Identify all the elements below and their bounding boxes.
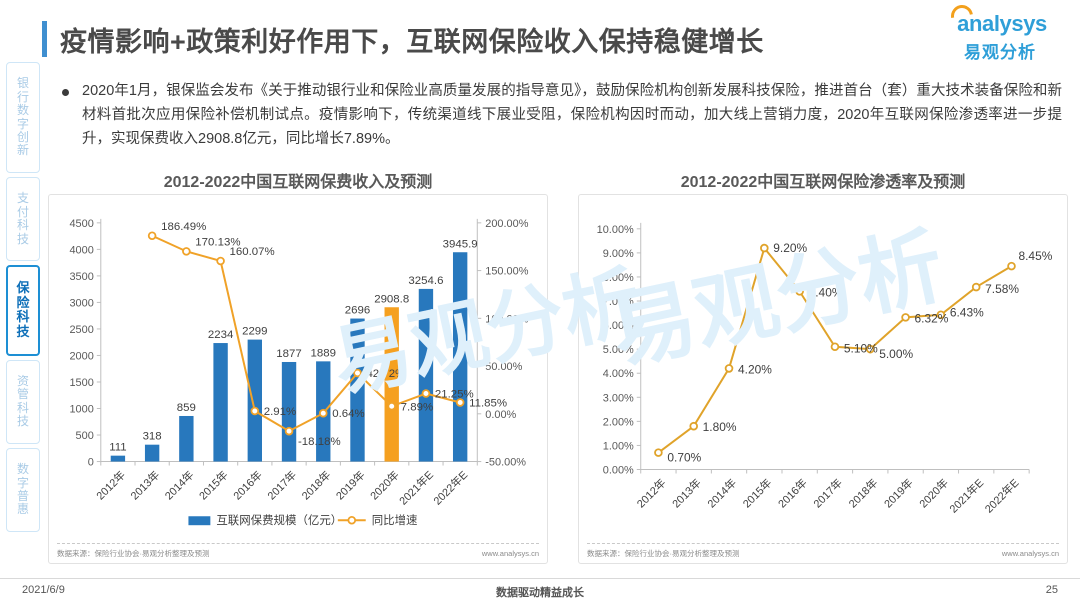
- x-tick-label: 2017年: [810, 476, 845, 511]
- x-tick-label: 2020年: [367, 468, 402, 503]
- chart-panel-penetration: 0.00%1.00%2.00%3.00%4.00%5.00%6.00%7.00%…: [578, 194, 1068, 564]
- sidebar-item-char: 科: [17, 402, 29, 415]
- bar: [179, 416, 193, 462]
- chart-panel-premium: 050010001500200025003000350040004500-50.…: [48, 194, 548, 564]
- source-text: 数据来源：保险行业协会·易观分析整理及预测: [587, 548, 740, 559]
- line-value-label: 5.00%: [879, 347, 913, 361]
- line-value-label: 0.70%: [667, 451, 701, 465]
- sidebar-item-char: 银: [17, 77, 29, 90]
- footer: 2021/6/9 数据驱动精益成长 25: [0, 582, 1080, 606]
- sidebar-item-char: 技: [17, 415, 29, 428]
- bar-value-label: 2234: [208, 329, 234, 341]
- source-note-penetration: 数据来源：保险行业协会·易观分析整理及预测 www.analysys.cn: [587, 543, 1059, 559]
- x-tick-label: 2012年: [93, 468, 128, 503]
- line-marker: [388, 403, 395, 410]
- source-url: www.analysys.cn: [482, 549, 539, 558]
- x-tick-label: 2012年: [634, 476, 669, 511]
- y-tick-label: 2.00%: [603, 416, 634, 428]
- bar: [453, 252, 467, 461]
- line-marker: [655, 449, 662, 456]
- line-value-label: 4.20%: [738, 362, 772, 376]
- x-tick-label: 2013年: [127, 468, 162, 503]
- bar-value-label: 1889: [311, 347, 336, 359]
- y-tick-label-left: 0: [88, 457, 94, 469]
- sidebar-nav[interactable]: 银行数字创新 支付科技 保险科技 资管科技 数字普惠: [6, 62, 40, 532]
- line-value-label: 6.32%: [915, 311, 949, 325]
- y-tick-label-left: 1000: [69, 403, 93, 415]
- sidebar-item-char: 险: [16, 296, 29, 311]
- sidebar-item-payment-tech[interactable]: 支付科技: [6, 177, 40, 261]
- bar: [385, 307, 399, 461]
- line-value-label: 186.49%: [161, 221, 206, 233]
- x-tick-label: 2022年E: [430, 468, 470, 508]
- bullet-dot-icon: [62, 89, 69, 96]
- y-tick-label-left: 1500: [69, 377, 93, 389]
- sidebar-item-char: 数: [17, 463, 29, 476]
- bar-value-label: 1877: [276, 348, 301, 360]
- y-tick-label-left: 4500: [69, 218, 93, 230]
- line-marker: [761, 245, 768, 252]
- y-tick-label: 5.00%: [603, 344, 634, 356]
- x-tick-label: 2016年: [230, 468, 265, 503]
- sidebar-item-char: 技: [17, 233, 29, 246]
- sidebar-item-char: 普: [17, 490, 29, 503]
- x-tick-label: 2017年: [264, 468, 299, 503]
- line-marker: [690, 423, 697, 430]
- y-tick-label-left: 2000: [69, 350, 93, 362]
- x-tick-label: 2022年E: [982, 476, 1022, 516]
- bar-value-label: 3254.6: [408, 275, 443, 287]
- line-marker: [149, 232, 156, 239]
- x-tick-label: 2015年: [196, 468, 231, 503]
- bar-value-label: 2299: [242, 326, 267, 338]
- line-marker: [320, 410, 327, 417]
- y-tick-label: 6.00%: [603, 320, 634, 332]
- y-tick-label-right: 150.00%: [485, 266, 528, 278]
- page-title: 疫情影响+政策利好作用下，互联网保险收入保持稳健增长: [42, 16, 930, 62]
- bullet-block: 2020年1月，银保监会发布《关于推动银行业和保险业高质量发展的指导意见》，鼓励…: [62, 80, 1062, 152]
- sidebar-item-char: 新: [17, 144, 29, 157]
- source-text: 数据来源：保险行业协会·易观分析整理及预测: [57, 548, 210, 559]
- chart-title-penetration: 2012-2022中国互联网保险渗透率及预测: [578, 168, 1068, 192]
- y-tick-label-left: 500: [76, 430, 94, 442]
- line-value-label: 7.40%: [809, 285, 843, 299]
- footer-divider: [0, 578, 1080, 579]
- line-marker: [726, 365, 733, 372]
- x-tick-label: 2016年: [775, 476, 810, 511]
- y-tick-label-left: 3000: [69, 297, 93, 309]
- line-value-label: 42.72%: [366, 368, 405, 380]
- x-tick-label: 2014年: [162, 468, 197, 503]
- bar: [350, 319, 364, 462]
- sidebar-item-asset-management-tech[interactable]: 资管科技: [6, 360, 40, 444]
- title-accent-bar: [42, 21, 47, 57]
- x-tick-label: 2019年: [881, 476, 916, 511]
- line-value-label: 11.85%: [469, 397, 507, 409]
- bar-value-label: 3945.9: [443, 238, 478, 250]
- line-value-label: 9.20%: [773, 241, 807, 255]
- premium-chart-svg: 050010001500200025003000350040004500-50.…: [49, 195, 547, 563]
- x-tick-label: 2015年: [740, 476, 775, 511]
- sidebar-item-char: 支: [17, 192, 29, 205]
- y-tick-label: 10.00%: [597, 224, 634, 236]
- sidebar-item-char: 科: [16, 310, 29, 325]
- y-tick-label-right: 200.00%: [485, 218, 528, 230]
- bar: [248, 340, 262, 462]
- source-url: www.analysys.cn: [1002, 549, 1059, 558]
- footer-slogan: 数据驱动精益成长: [0, 584, 1080, 600]
- x-tick-label: 2021年E: [946, 476, 986, 516]
- y-tick-label: 1.00%: [603, 440, 634, 452]
- sidebar-item-digital-inclusive[interactable]: 数字普惠: [6, 448, 40, 532]
- analysys-logo: analysys 易观分析: [936, 12, 1064, 64]
- sidebar-item-char: 付: [17, 206, 29, 219]
- bar-value-label: 2696: [345, 305, 370, 317]
- x-tick-label: 2019年: [333, 468, 368, 503]
- bar-value-label: 318: [143, 431, 162, 443]
- source-note-premium: 数据来源：保险行业协会·易观分析整理及预测 www.analysys.cn: [57, 543, 539, 559]
- line-value-label: 21.25%: [435, 389, 474, 401]
- bar-value-label: 2908.8: [374, 293, 409, 305]
- title-text: 疫情影响+政策利好作用下，互联网保险收入保持稳健增长: [60, 20, 764, 59]
- sidebar-item-char: 管: [17, 388, 29, 401]
- line-value-label: 160.07%: [230, 246, 275, 258]
- y-tick-label-left: 3500: [69, 271, 93, 283]
- line-marker: [354, 370, 361, 377]
- sidebar-item-char: 字: [17, 477, 29, 490]
- legend-label-bar: 互联网保费规模（亿元）: [216, 513, 342, 527]
- y-tick-label: 8.00%: [603, 272, 634, 284]
- x-tick-label: 2014年: [704, 476, 739, 511]
- line-marker: [1008, 263, 1015, 270]
- x-tick-label: 2013年: [669, 476, 704, 511]
- line-marker: [796, 288, 803, 295]
- line-value-label: 6.43%: [950, 306, 984, 320]
- sidebar-item-char: 保: [16, 281, 29, 296]
- line-marker: [902, 314, 909, 321]
- y-tick-label: 7.00%: [603, 296, 634, 308]
- bar: [111, 456, 125, 462]
- line-value-label: 1.80%: [703, 420, 737, 434]
- sidebar-item-char: 惠: [17, 503, 29, 516]
- line-marker: [832, 343, 839, 350]
- x-tick-label: 2018年: [298, 468, 333, 503]
- y-tick-label-left: 4000: [69, 244, 93, 256]
- sidebar-item-insurance-tech[interactable]: 保险科技: [6, 265, 40, 356]
- y-tick-label-right: -50.00%: [485, 457, 526, 469]
- line-marker: [423, 390, 430, 397]
- line-value-label: -18.18%: [298, 436, 341, 448]
- y-tick-label-left: 2500: [69, 324, 93, 336]
- y-tick-label-right: 100.00%: [485, 313, 528, 325]
- line-marker: [973, 284, 980, 291]
- bar: [419, 289, 433, 462]
- y-tick-label: 0.00%: [603, 464, 634, 476]
- y-tick-label-right: 0.00%: [485, 409, 516, 421]
- line-value-label: 7.58%: [985, 282, 1019, 296]
- slide-root: 疫情影响+政策利好作用下，互联网保险收入保持稳健增长 analysys 易观分析…: [0, 0, 1080, 608]
- sidebar-item-char: 数: [17, 104, 29, 117]
- x-tick-label: 2020年: [916, 476, 951, 511]
- line-marker: [183, 248, 190, 255]
- legend-marker: [348, 517, 355, 524]
- line-marker: [217, 258, 224, 265]
- x-tick-label: 2018年: [845, 476, 880, 511]
- legend-label-line: 同比增速: [372, 513, 418, 527]
- sidebar-item-char: 科: [17, 219, 29, 232]
- chart-title-premium: 2012-2022中国互联网保费收入及预测: [48, 168, 548, 192]
- y-tick-label-right: 50.00%: [485, 361, 522, 373]
- line-marker: [251, 408, 258, 415]
- sidebar-item-char: 技: [16, 325, 29, 340]
- legend-swatch-bar: [188, 516, 210, 525]
- line-value-label: 7.89%: [401, 401, 433, 413]
- bar-value-label: 111: [109, 442, 126, 454]
- x-tick-label: 2021年E: [396, 468, 436, 508]
- bar-value-label: 859: [177, 402, 196, 414]
- bullet-paragraph: 2020年1月，银保监会发布《关于推动银行业和保险业高质量发展的指导意见》，鼓励…: [82, 80, 1062, 152]
- sidebar-item-char: 字: [17, 118, 29, 131]
- y-tick-label: 9.00%: [603, 248, 634, 260]
- sidebar-item-bank-digital-innovation[interactable]: 银行数字创新: [6, 62, 40, 173]
- line-value-label: 8.45%: [1018, 249, 1052, 263]
- line-value-label: 2.91%: [264, 406, 296, 418]
- bar: [213, 343, 227, 462]
- y-tick-label: 4.00%: [603, 368, 634, 380]
- line-marker: [286, 428, 293, 435]
- line-value-label: 0.64%: [332, 408, 364, 420]
- logo-chinese-text: 易观分析: [964, 38, 1036, 63]
- logo-wordmark: analysys: [953, 13, 1047, 35]
- bar: [145, 445, 159, 462]
- penetration-chart-svg: 0.00%1.00%2.00%3.00%4.00%5.00%6.00%7.00%…: [579, 195, 1067, 563]
- y-tick-label: 3.00%: [603, 392, 634, 404]
- footer-page-number: 25: [1046, 584, 1058, 596]
- line-value-label: 5.10%: [844, 342, 878, 356]
